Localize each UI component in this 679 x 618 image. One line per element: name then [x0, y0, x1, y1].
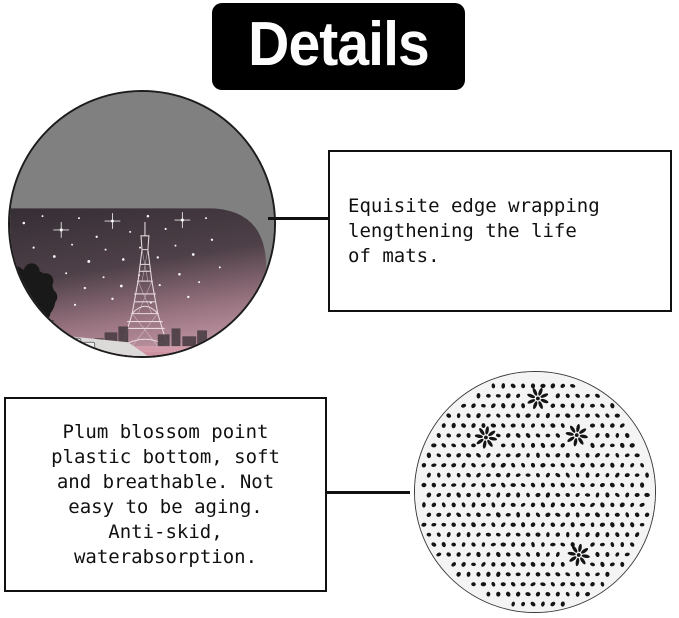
callout-line: Plum blossom point	[12, 420, 319, 445]
callout-plastic-bottom: Plum blossom point plastic bottom, soft …	[4, 397, 327, 592]
callout-edge-wrapping: Equisite edge wrapping lengthening the l…	[328, 150, 672, 312]
callout-line: easy to be aging.	[12, 495, 319, 520]
leader-line-bottom	[326, 491, 410, 494]
callout-line: plastic bottom, soft	[12, 445, 319, 470]
callout-line: lengthening the life	[348, 219, 670, 244]
leader-line-top	[268, 217, 330, 220]
callout-line: waterabsorption.	[12, 545, 319, 570]
plum-blossom-dot-texture	[415, 372, 655, 612]
page-title: Details	[222, 3, 455, 90]
callout-line: of mats.	[348, 244, 670, 269]
callout-line: Equisite edge wrapping	[348, 194, 670, 219]
mat-backing-circle	[414, 371, 656, 613]
callout-line: Anti-skid,	[12, 520, 319, 545]
details-header-banner: Details	[212, 3, 465, 90]
details-page: Details	[0, 0, 679, 618]
callout-line: and breathable. Not	[12, 470, 319, 495]
eiffel-tower-mat-illustration	[10, 92, 274, 356]
product-photo-circle	[8, 90, 276, 358]
